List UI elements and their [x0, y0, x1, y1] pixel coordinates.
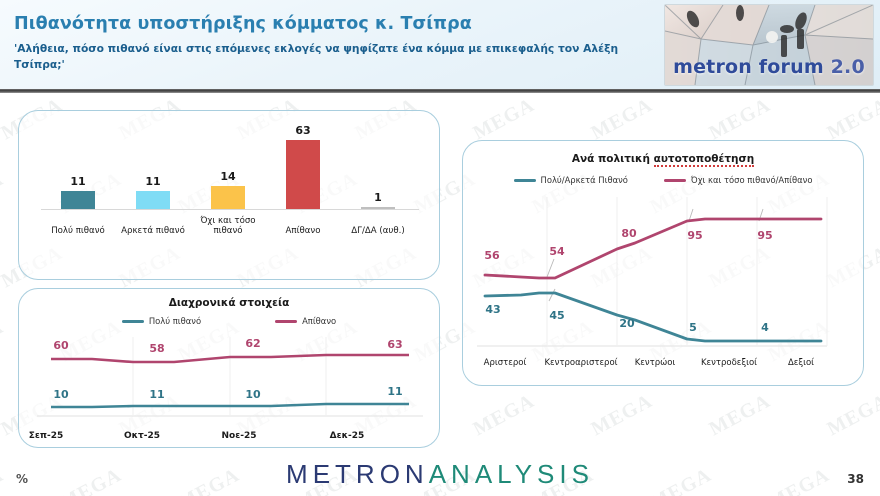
bar-value-3: 63: [295, 124, 310, 137]
bar-rect-0: [61, 191, 95, 209]
trend-value-poly-3: 11: [387, 385, 402, 398]
trend-value-poly-2: 10: [245, 388, 261, 401]
slide-root: Πιθανότητα υποστήριξης κόμματος κ. Τσίπρ…: [0, 0, 880, 496]
page-title: Πιθανότητα υποστήριξης κόμματος κ. Τσίπρ…: [14, 14, 654, 34]
legend-swatch-icon: [122, 320, 144, 323]
trend-chart-legend: Πολύ πιθανό Απίθανο: [19, 316, 439, 326]
political-xlabel-0: Αριστεροί: [484, 358, 527, 368]
political-title-flagged: αυτοτοποθέτηση: [654, 153, 755, 167]
logo-word-version: 2.0: [831, 56, 865, 78]
trend-value-poly-0: 10: [53, 388, 69, 401]
political-series-apithano-line: [485, 219, 821, 278]
bar-rect-2: [211, 186, 245, 209]
political-value-pithano-0: 43: [485, 303, 500, 316]
header-text-block: Πιθανότητα υποστήριξης κόμματος κ. Τσίπρ…: [14, 14, 654, 72]
bar-label-3: Απίθανο: [266, 226, 340, 237]
political-value-apithano-4: 95: [757, 229, 772, 242]
bar-chart-plot: 11 11 14 63 1 Πολύ πιθανό Αρκετά πιθανό …: [41, 127, 419, 239]
trend-value-apithano-2: 62: [245, 337, 260, 350]
trend-legend-item-0[interactable]: Πολύ πιθανό: [122, 316, 201, 326]
bar-label-0: Πολύ πιθανό: [41, 226, 115, 237]
political-xlabel-3: Κεντροδεξιοί: [701, 358, 757, 368]
political-xlabel-1: Κεντροαριστεροί: [544, 358, 617, 368]
trend-xlabel-3: Δεκ-25: [307, 431, 387, 441]
legend-swatch-icon: [514, 179, 536, 182]
trend-xlabel-1: Οκτ-25: [102, 431, 182, 441]
logo-word-main: metron forum: [673, 56, 831, 78]
legend-swatch-icon: [664, 179, 686, 182]
trend-chart-title: Διαχρονικά στοιχεία: [19, 297, 439, 309]
legend-swatch-icon: [275, 320, 297, 323]
political-leader-lines: [547, 209, 763, 301]
political-chart-title: Ανά πολιτική αυτοτοποθέτηση: [463, 153, 863, 165]
bar-value-2: 14: [220, 170, 235, 183]
page-subtitle: 'Αλήθεια, πόσο πιθανό είναι στις επόμενε…: [14, 41, 632, 72]
card-trend-chart: Διαχρονικά στοιχεία Πολύ πιθανό Απίθανο …: [18, 288, 440, 448]
political-legend-label-0: Πολύ/Αρκετά Πιθανό: [541, 175, 628, 185]
bar-column-2: 14: [195, 121, 261, 209]
bar-value-0: 11: [70, 175, 85, 188]
political-value-apithano-1: 54: [549, 245, 565, 258]
bar-column-3: 63: [270, 121, 336, 209]
slide-footer: % METRONANALYSIS 38: [0, 450, 880, 496]
political-legend-item-0[interactable]: Πολύ/Αρκετά Πιθανό: [514, 175, 628, 185]
bar-rect-4: [361, 207, 395, 209]
political-series-pithano-line: [485, 293, 821, 341]
trend-value-apithano-1: 58: [149, 342, 164, 355]
brand-metron: METRON: [286, 459, 429, 489]
page-number: 38: [847, 472, 864, 486]
card-political-chart: Ανά πολιτική αυτοτοποθέτηση Πολύ/Αρκετά …: [462, 140, 864, 386]
trend-xlabel-2: Νοε-25: [199, 431, 279, 441]
bar-column-4: 1: [345, 121, 411, 209]
political-value-pithano-3: 5: [689, 321, 697, 334]
trend-xlabel-0: Σεπ-25: [6, 431, 86, 441]
political-legend-label-1: Όχι και τόσο πιθανό/Απίθανο: [691, 175, 813, 185]
header-divider-rule: [0, 89, 880, 93]
bar-chart-axis-line: [41, 209, 419, 210]
bar-column-0: 11: [45, 121, 111, 209]
trend-legend-label-0: Πολύ πιθανό: [149, 316, 201, 326]
trend-legend-item-1[interactable]: Απίθανο: [275, 316, 336, 326]
metron-forum-logo: metron forum 2.0: [664, 4, 874, 86]
brand-analysis: ANALYSIS: [429, 459, 594, 489]
bar-column-1: 11: [120, 121, 186, 209]
trend-chart-plot: 60 58 62 63 10 11 10 11: [37, 337, 423, 417]
political-value-pithano-1: 45: [549, 309, 564, 322]
political-chart-plot: 56 54 80 95 95 43 45 20 5 4 Αριστεροί Κε…: [477, 197, 851, 377]
metron-analysis-brand: METRONANALYSIS: [0, 459, 880, 490]
political-xlabel-2: Κεντρώοι: [635, 357, 676, 368]
political-value-pithano-2: 20: [619, 317, 635, 330]
political-value-apithano-0: 56: [484, 249, 500, 262]
trend-value-poly-1: 11: [149, 388, 164, 401]
trend-value-apithano-3: 63: [387, 338, 402, 351]
political-value-pithano-4: 4: [761, 321, 769, 334]
bar-rect-3: [286, 140, 320, 209]
bar-label-1: Αρκετά πιθανό: [116, 226, 190, 237]
political-chart-legend: Πολύ/Αρκετά Πιθανό Όχι και τόσο πιθανό/Α…: [463, 175, 863, 185]
political-legend-item-1[interactable]: Όχι και τόσο πιθανό/Απίθανο: [664, 175, 813, 185]
card-main-bar-chart: 11 11 14 63 1 Πολύ πιθανό Αρκετά πιθανό …: [18, 110, 440, 280]
bar-value-1: 11: [145, 175, 160, 188]
slide-header: Πιθανότητα υποστήριξης κόμματος κ. Τσίπρ…: [0, 0, 880, 89]
political-value-apithano-2: 80: [621, 227, 637, 240]
bar-label-2: Όχι και τόσο πιθανό: [191, 216, 265, 237]
political-title-plain: Ανά πολιτική: [572, 153, 654, 165]
political-xlabel-4: Δεξιοί: [788, 358, 814, 368]
trend-value-apithano-0: 60: [53, 339, 69, 352]
bar-rect-1: [136, 191, 170, 209]
political-value-apithano-3: 95: [687, 229, 702, 242]
bar-label-4: ΔΓ/ΔΑ (αυθ.): [341, 226, 415, 237]
trend-legend-label-1: Απίθανο: [302, 316, 336, 326]
bar-value-4: 1: [374, 191, 382, 204]
logo-wordmark: metron forum 2.0: [665, 56, 873, 78]
